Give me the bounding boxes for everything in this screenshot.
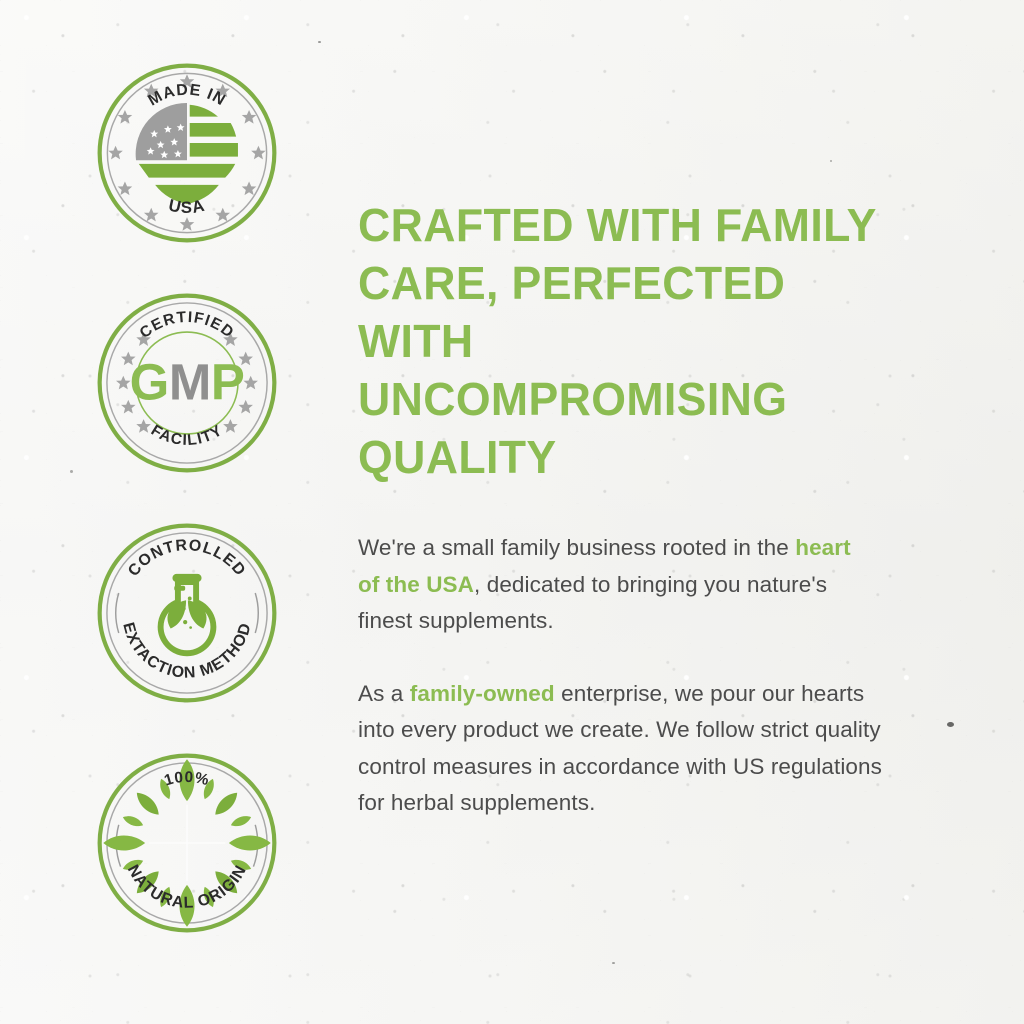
paper-speck	[612, 962, 615, 964]
gmp-certified-badge: GMP CERTIFIED FACILITY	[96, 292, 278, 474]
flask-leaf-icon	[161, 574, 214, 653]
badge-top-text: CERTIFIED	[137, 309, 238, 342]
badge-top-text: CONTROLLED	[125, 537, 249, 580]
left-accent-arc	[116, 593, 119, 633]
badge-bottom-text: USA	[167, 196, 208, 217]
badge-bottom-text-facility: FACILITY	[148, 422, 226, 449]
usa-flag-circle-icon	[136, 103, 238, 204]
trust-badges-column: MADE IN USA	[90, 62, 290, 982]
badge-top-text: MADE IN	[145, 81, 228, 109]
right-accent-arc	[255, 593, 258, 633]
paragraph-1-before: We're a small family business rooted in …	[358, 535, 795, 560]
body-paragraph: As a family-owned enterprise, we pour ou…	[358, 676, 888, 822]
page-title: CRAFTED WITH FAMILY CARE, PERFECTED WITH…	[358, 196, 901, 486]
paper-speck	[830, 160, 832, 162]
made-in-usa-badge: MADE IN USA	[96, 62, 278, 244]
paragraph-2-highlight: family-owned	[410, 681, 555, 706]
svg-text:GMP: GMP	[130, 353, 245, 410]
gmp-text-icon: GMP	[130, 353, 245, 410]
natural-origin-badge: 100% NATURAL ORIGIN	[96, 752, 278, 934]
paper-speck	[318, 41, 321, 43]
controlled-extraction-badge: CONTROLLED EXTACTION METHOD	[96, 522, 278, 704]
intro-paragraph: We're a small family business rooted in …	[358, 530, 878, 640]
content-column: CRAFTED WITH FAMILY CARE, PERFECTED WITH…	[358, 196, 918, 822]
page-root: MADE IN USA	[0, 0, 1024, 1024]
paragraph-2-before: As a	[358, 681, 410, 706]
paper-speck	[947, 722, 954, 727]
paper-speck	[70, 470, 73, 473]
